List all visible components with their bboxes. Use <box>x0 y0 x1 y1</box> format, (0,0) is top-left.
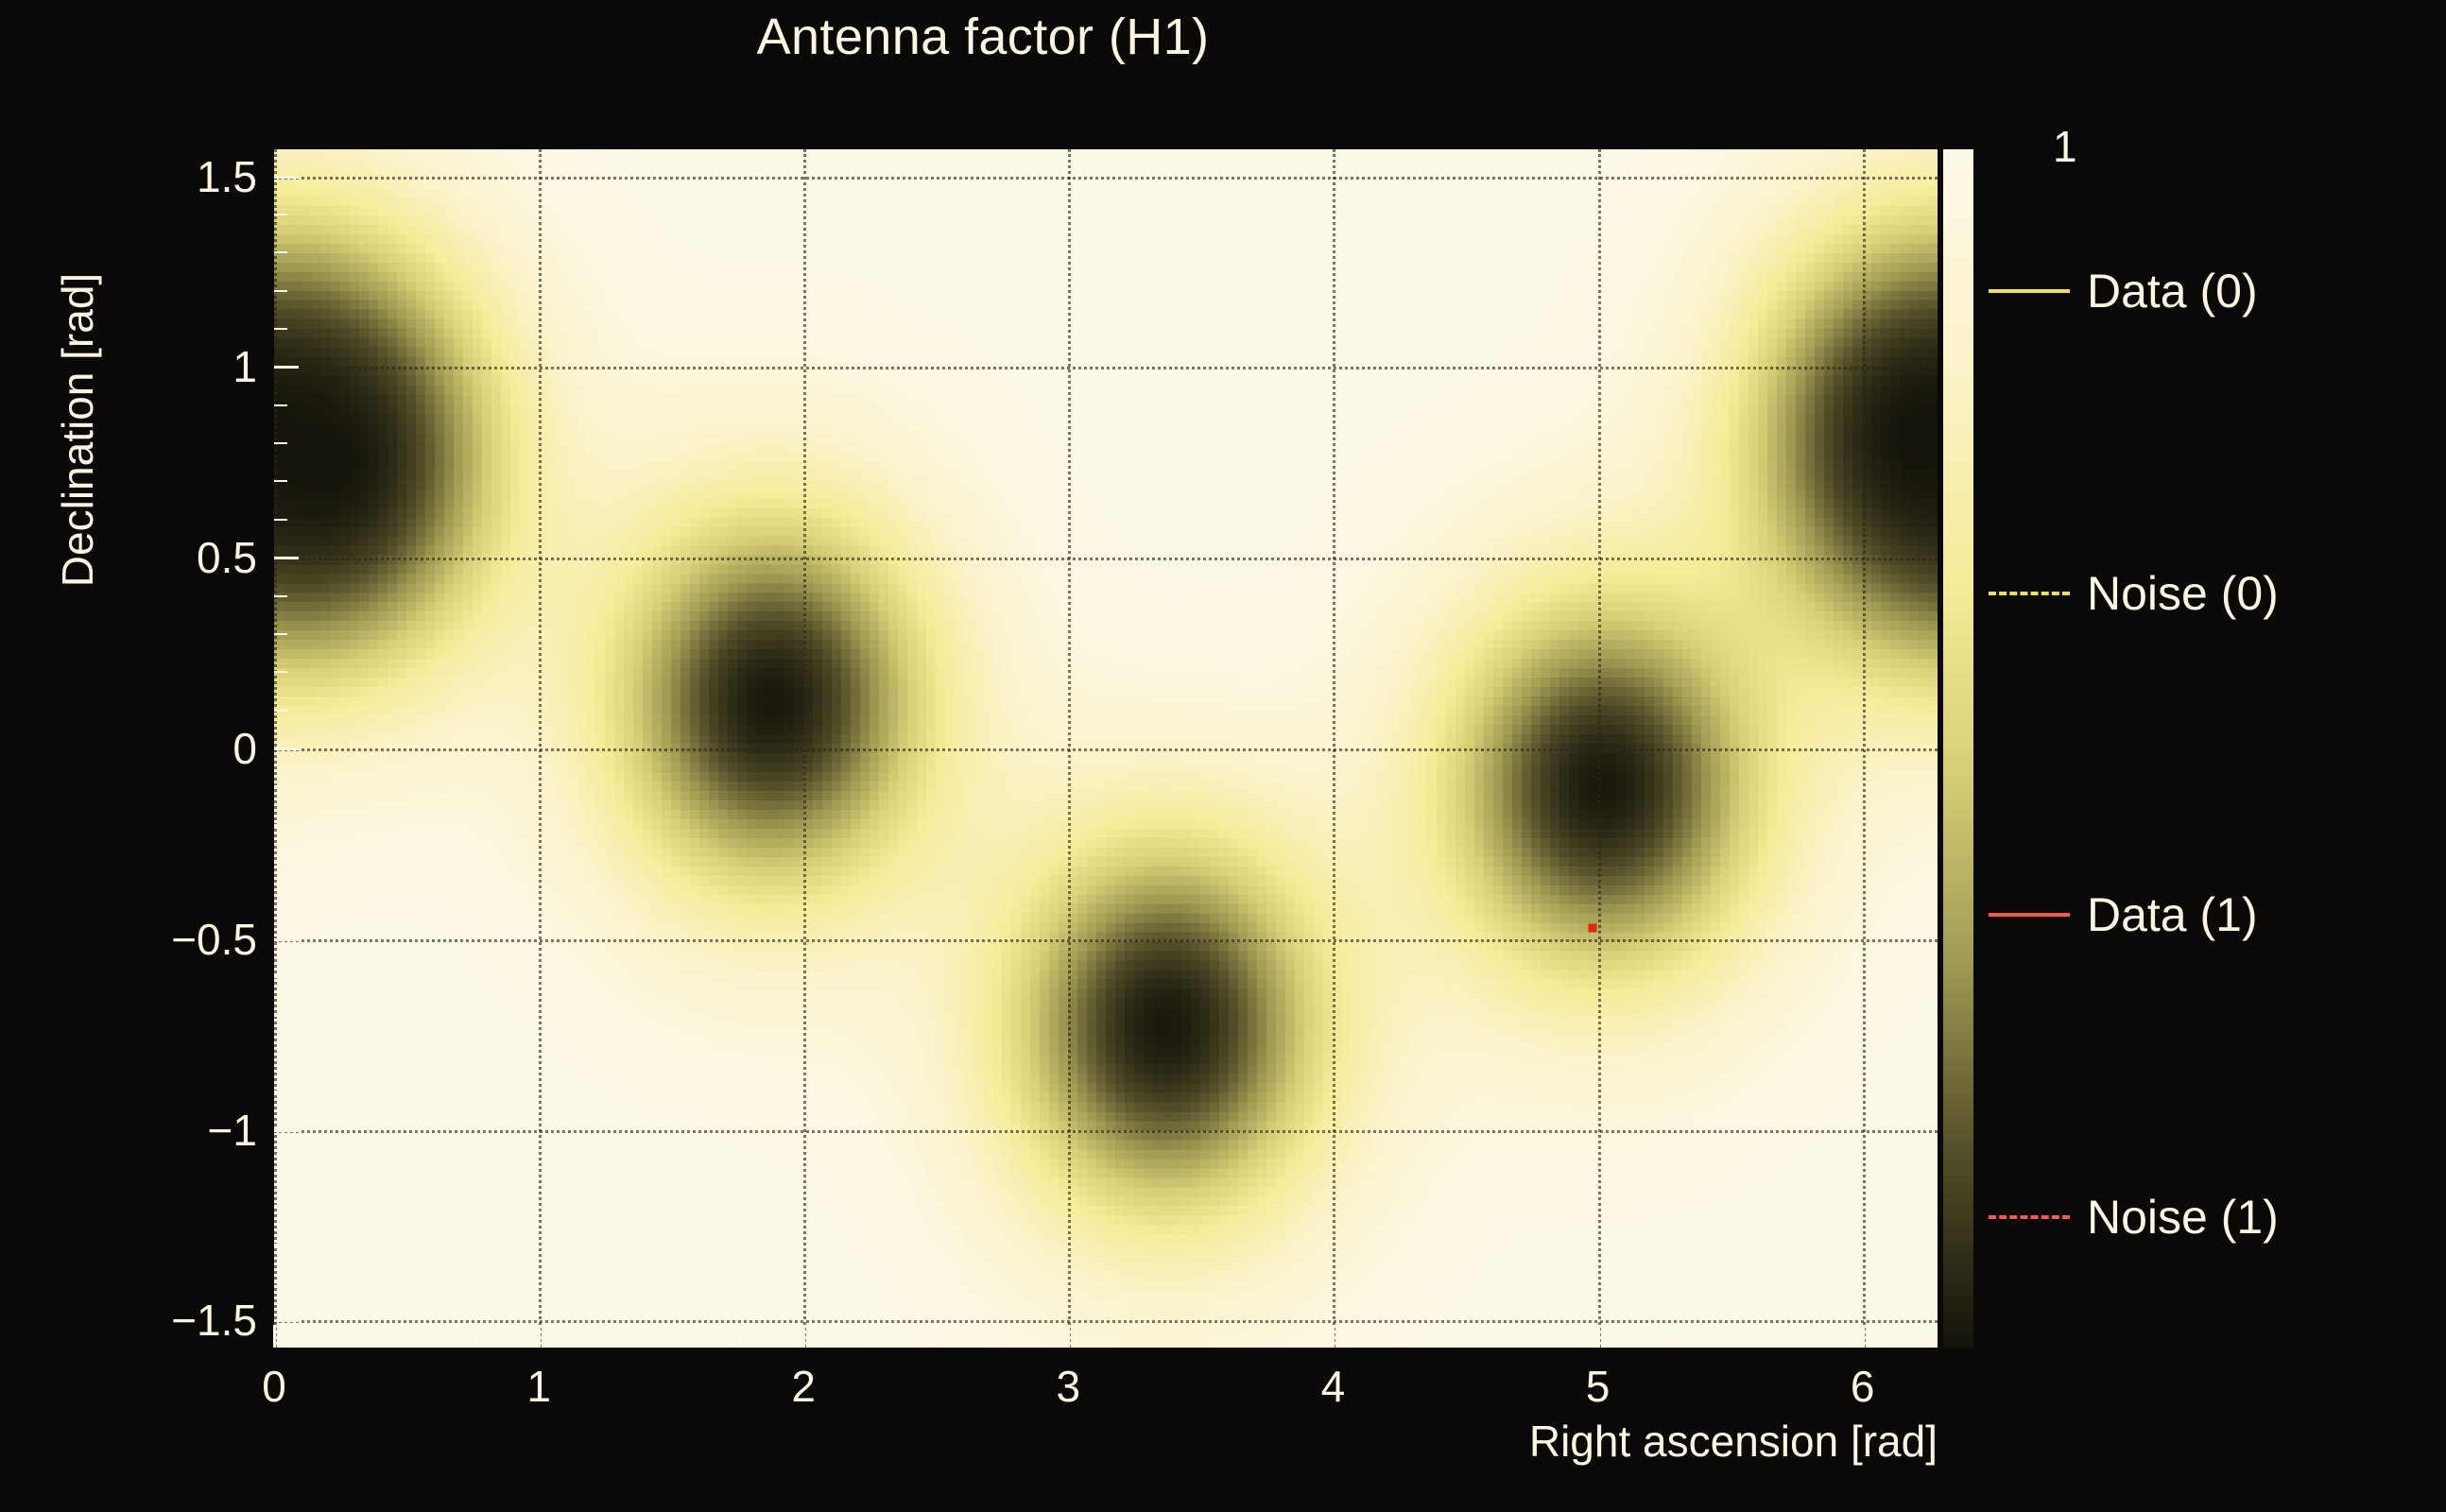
y-minor-tick <box>274 1205 287 1207</box>
x-minor-tick <box>1928 1335 1930 1348</box>
legend-line-swatch-icon <box>1989 592 2070 595</box>
x-minor-tick <box>1398 1335 1400 1348</box>
x-axis-title-text: Right ascension [rad] <box>1529 1417 1938 1466</box>
legend-entry[interactable]: Noise (1) <box>1981 1191 2446 1244</box>
x-minor-tick <box>1531 1335 1533 1348</box>
legend-entry[interactable]: Data (1) <box>1981 888 2446 941</box>
y-minor-tick <box>274 1167 287 1169</box>
y-major-tick <box>274 1129 299 1132</box>
figure-root: Antenna factor (H1) −1.5−1−0.500.511.5 0… <box>0 0 2446 1512</box>
x-minor-tick <box>1001 1335 1003 1348</box>
y-minor-tick <box>274 710 287 712</box>
y-minor-tick <box>274 1053 287 1055</box>
y-minor-tick <box>274 633 287 635</box>
legend-line-swatch-icon <box>1989 913 2070 917</box>
y-axis-title: Declination [rad] <box>49 149 106 1348</box>
x-minor-tick <box>1730 1335 1731 1348</box>
x-minor-tick <box>1199 1335 1201 1348</box>
legend-label: Noise (0) <box>2087 570 2279 617</box>
x-major-tick <box>1597 1325 1600 1348</box>
x-major-tick <box>538 1325 541 1348</box>
y-minor-tick <box>274 1281 287 1283</box>
x-minor-tick <box>405 1335 407 1348</box>
y-axis-title-text: Declination [rad] <box>52 273 103 587</box>
y-major-tick <box>274 557 299 559</box>
y-minor-tick <box>274 214 287 215</box>
y-minor-tick <box>274 1244 287 1246</box>
x-tick-label: 5 <box>1586 1361 1611 1412</box>
colorbar[interactable] <box>1943 149 1973 1348</box>
legend: Data (0)Noise (0)Data (1)Noise (1) <box>1981 151 2446 1351</box>
y-major-tick <box>274 1319 299 1322</box>
x-tick-label: 6 <box>1851 1361 1875 1412</box>
y-minor-tick <box>274 480 287 482</box>
heatmap-plot-area[interactable] <box>274 149 1938 1348</box>
source-marker-icon <box>1588 923 1596 932</box>
x-major-tick <box>273 1325 276 1348</box>
y-tick-label: 1.5 <box>197 151 257 202</box>
legend-label: Noise (1) <box>2087 1194 2279 1241</box>
y-minor-tick <box>274 251 287 253</box>
x-tick-label: 3 <box>1057 1361 1081 1412</box>
y-minor-tick <box>274 1091 287 1092</box>
y-minor-tick <box>274 976 287 978</box>
x-minor-tick <box>1663 1335 1665 1348</box>
x-tick-label: 1 <box>526 1361 551 1412</box>
y-tick-label: 1 <box>233 341 257 392</box>
legend-entry[interactable]: Noise (0) <box>1981 567 2446 620</box>
x-tick-label: 2 <box>791 1361 816 1412</box>
x-tick-label: 4 <box>1321 1361 1346 1412</box>
y-tick-label: 0 <box>233 723 257 774</box>
y-minor-tick <box>274 442 287 444</box>
legend-label: Data (0) <box>2087 267 2258 315</box>
y-minor-tick <box>274 328 287 330</box>
legend-label: Data (1) <box>2087 891 2258 938</box>
y-major-tick <box>274 176 299 179</box>
y-major-tick <box>274 366 299 369</box>
x-major-tick <box>802 1325 805 1348</box>
y-minor-tick <box>274 862 287 864</box>
x-minor-tick <box>604 1335 606 1348</box>
legend-line-swatch-icon <box>1989 289 2070 293</box>
x-axis-title: Right ascension [rad] <box>0 1416 1938 1467</box>
y-major-tick <box>274 747 299 750</box>
x-minor-tick <box>935 1335 937 1348</box>
y-minor-tick <box>274 519 287 521</box>
legend-line-swatch-icon <box>1989 1215 2070 1219</box>
legend-entry[interactable]: Data (0) <box>1981 265 2446 318</box>
y-minor-tick <box>274 785 287 787</box>
x-minor-tick <box>736 1335 738 1348</box>
y-tick-label: −0.5 <box>171 914 257 965</box>
y-minor-tick <box>274 404 287 406</box>
x-major-tick <box>1332 1325 1335 1348</box>
x-minor-tick <box>1465 1335 1467 1348</box>
x-minor-tick <box>670 1335 672 1348</box>
y-minor-tick <box>274 595 287 597</box>
y-tick-label: 0.5 <box>197 532 257 583</box>
y-major-tick <box>274 938 299 941</box>
y-minor-tick <box>274 900 287 902</box>
y-minor-tick <box>274 290 287 292</box>
x-minor-tick <box>339 1335 341 1348</box>
y-minor-tick <box>274 824 287 826</box>
y-minor-tick <box>274 671 287 673</box>
x-minor-tick <box>1266 1335 1267 1348</box>
y-tick-label: −1 <box>208 1105 257 1156</box>
x-minor-tick <box>472 1335 474 1348</box>
x-minor-tick <box>1796 1335 1798 1348</box>
x-tick-label: 0 <box>262 1361 286 1412</box>
y-tick-label: −1.5 <box>171 1295 257 1346</box>
heatmap-canvas <box>274 149 1938 1348</box>
x-minor-tick <box>1133 1335 1135 1348</box>
x-major-tick <box>1067 1325 1070 1348</box>
x-minor-tick <box>869 1335 870 1348</box>
y-minor-tick <box>274 1015 287 1017</box>
x-major-tick <box>1862 1325 1865 1348</box>
page-title: Antenna factor (H1) <box>0 8 1966 66</box>
